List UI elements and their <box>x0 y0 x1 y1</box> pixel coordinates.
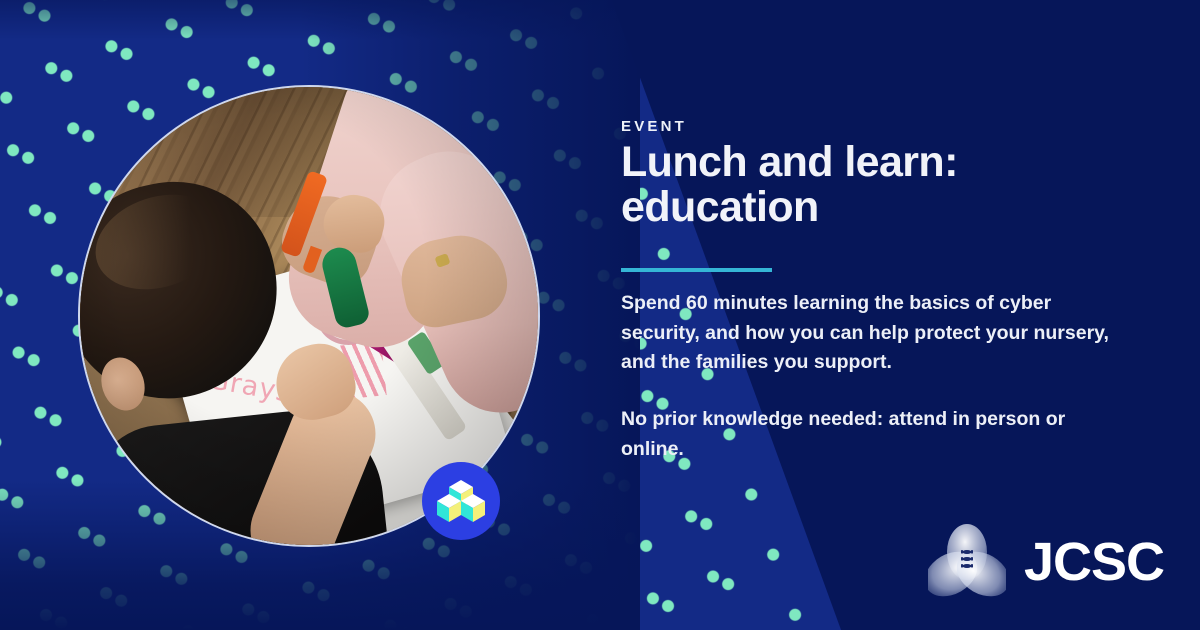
body-copy: Spend 60 minutes learning the basics of … <box>621 289 1121 464</box>
jcsc-emblem-icon <box>928 522 1006 602</box>
blocks-icon <box>436 478 486 524</box>
dot-pattern-fade-top <box>0 0 640 40</box>
accent-rule <box>621 268 772 272</box>
body-paragraph: No prior knowledge needed: attend in per… <box>621 405 1121 464</box>
isometric-blocks-badge <box>422 462 500 540</box>
page-title: Lunch and learn: education <box>621 140 1051 230</box>
eyebrow-label: EVENT <box>621 118 687 135</box>
body-paragraph: Spend 60 minutes learning the basics of … <box>621 289 1121 378</box>
jcsc-wordmark: JCSC <box>1024 535 1164 589</box>
event-promo-banner: Grayson <box>0 0 1200 630</box>
three-lions-crest-icon <box>961 550 973 568</box>
jcsc-logo: JCSC <box>928 519 1168 605</box>
